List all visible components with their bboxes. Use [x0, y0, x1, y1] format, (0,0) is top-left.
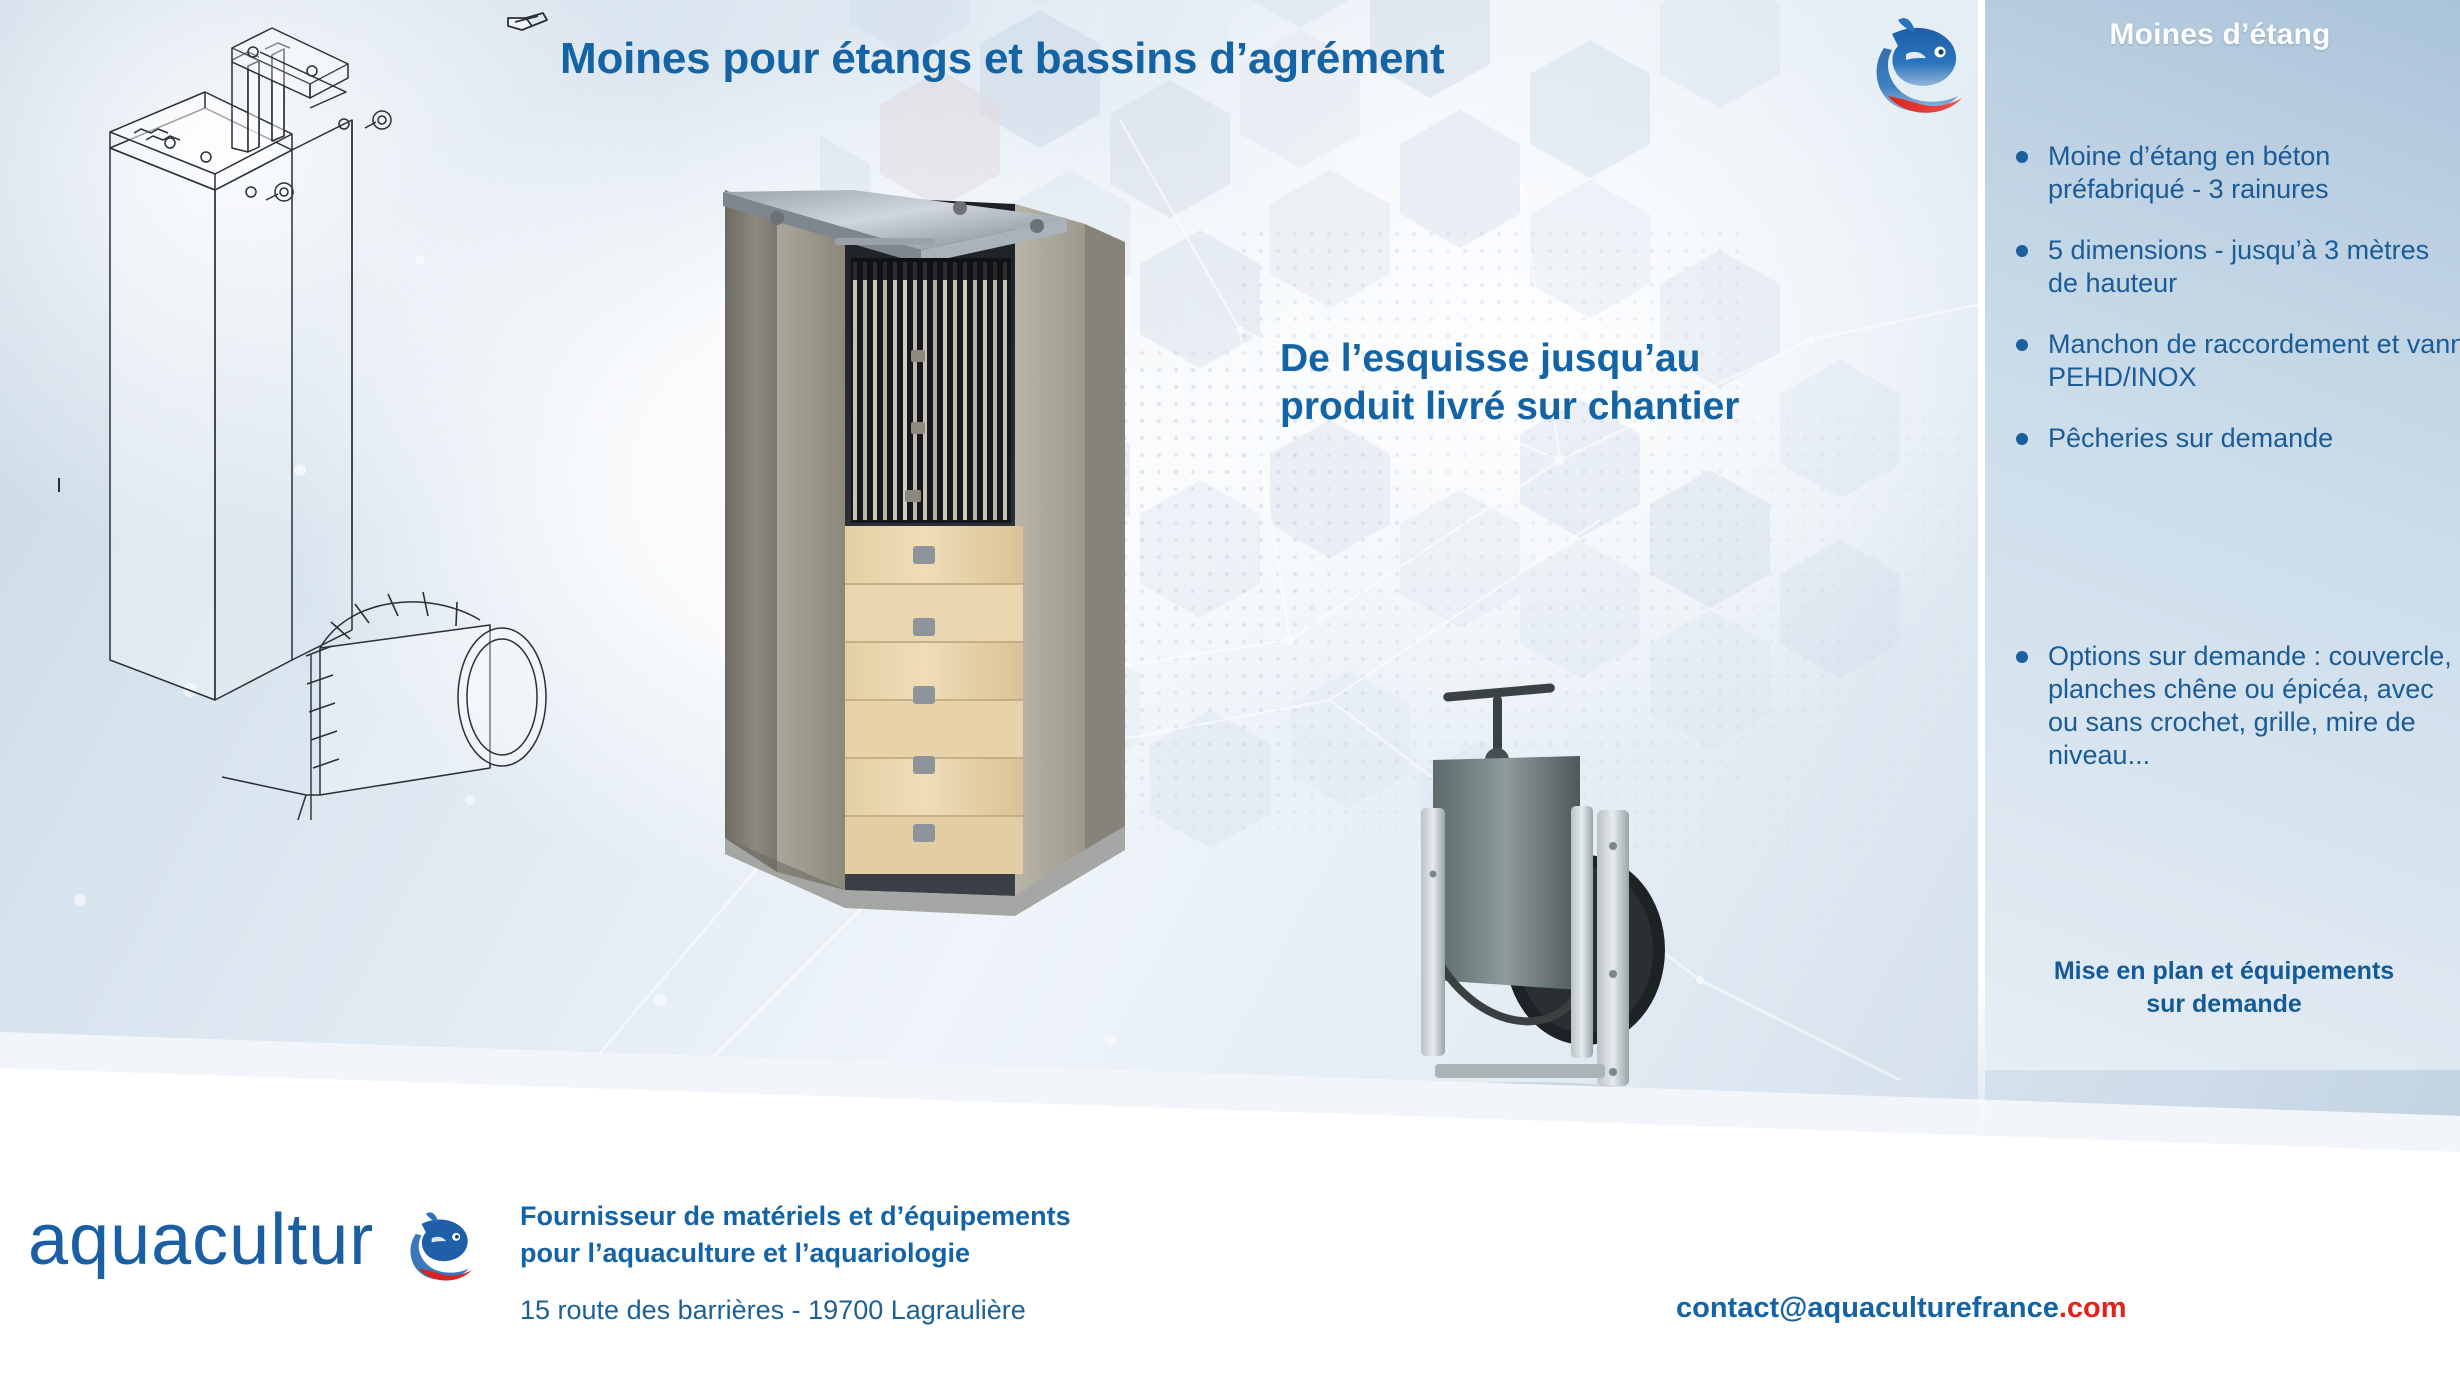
- contact-email[interactable]: contact@aquaculturefrance.com: [1676, 1292, 2127, 1325]
- sidebar-options-list: Options sur demande : couvercle, planche…: [2010, 640, 2460, 800]
- bullet-dot-icon: [2016, 151, 2028, 163]
- footer-tagline-line-1: Fournisseur de matériels et d’équipement…: [520, 1198, 1340, 1235]
- footer-address: 15 route des barrières - 19700 Lagrauliè…: [520, 1295, 1340, 1326]
- footer-text-block: Fournisseur de matériels et d’équipement…: [520, 1198, 1340, 1326]
- list-item: Pêcheries sur demande: [2010, 422, 2450, 455]
- bullet-dot-icon: [2016, 339, 2028, 351]
- sidebar-note-line-1: Mise en plan et équipements: [1998, 955, 2450, 988]
- technical-drawing-monk-tower: [10, 0, 570, 820]
- list-item: Manchon de raccordement et vanne PEHD/IN…: [2010, 328, 2460, 394]
- bullet-dot-icon: [2016, 651, 2028, 663]
- svg-text:aquacultur: aquacultur: [28, 1200, 374, 1280]
- contact-email-local: contact@aquaculturefrance: [1676, 1292, 2059, 1324]
- list-item-label: Pêcheries sur demande: [2048, 423, 2333, 453]
- list-item-label: Manchon de raccordement et vanne PEHD/IN…: [2048, 329, 2460, 392]
- list-item-label: Options sur demande : couvercle, planche…: [2048, 641, 2452, 770]
- concrete-monk-with-wooden-boards-photo: [715, 190, 1135, 990]
- sidebar-divider: [1978, 0, 1985, 1125]
- sidebar-note: Mise en plan et équipements sur demande: [1998, 955, 2450, 1020]
- list-item: Moine d’étang en béton préfabriqué - 3 r…: [2010, 140, 2450, 206]
- sidebar-note-line-2: sur demande: [1998, 988, 2450, 1021]
- subheadline: De l’esquisse jusqu’au produit livré sur…: [1280, 335, 1920, 432]
- page-title: Moines pour étangs et bassins d’agrément: [560, 34, 1444, 84]
- list-item: 5 dimensions - jusqu’à 3 mètres de haute…: [2010, 234, 2450, 300]
- fish-logo-icon: [1862, 12, 1982, 132]
- sidebar-feature-list: Moine d’étang en béton préfabriqué - 3 r…: [2010, 140, 2450, 483]
- bullet-dot-icon: [2016, 245, 2028, 257]
- aquaculture-logo: aquacultur: [28, 1200, 508, 1290]
- poster-page: Moines pour étangs et bassins d’agrément…: [0, 0, 2460, 1384]
- sidebar-title: Moines d’étang: [1985, 18, 2455, 52]
- subheadline-line-1: De l’esquisse jusqu’au: [1280, 335, 1920, 383]
- list-item: Options sur demande : couvercle, planche…: [2010, 640, 2460, 772]
- list-item-label: 5 dimensions - jusqu’à 3 mètres de haute…: [2048, 235, 2429, 298]
- list-item-label: Moine d’étang en béton préfabriqué - 3 r…: [2048, 141, 2330, 204]
- subheadline-line-2: produit livré sur chantier: [1280, 383, 1920, 431]
- footer-tagline-line-2: pour l’aquaculture et l’aquariologie: [520, 1235, 1340, 1272]
- bullet-dot-icon: [2016, 433, 2028, 445]
- contact-email-tld: .com: [2059, 1292, 2127, 1324]
